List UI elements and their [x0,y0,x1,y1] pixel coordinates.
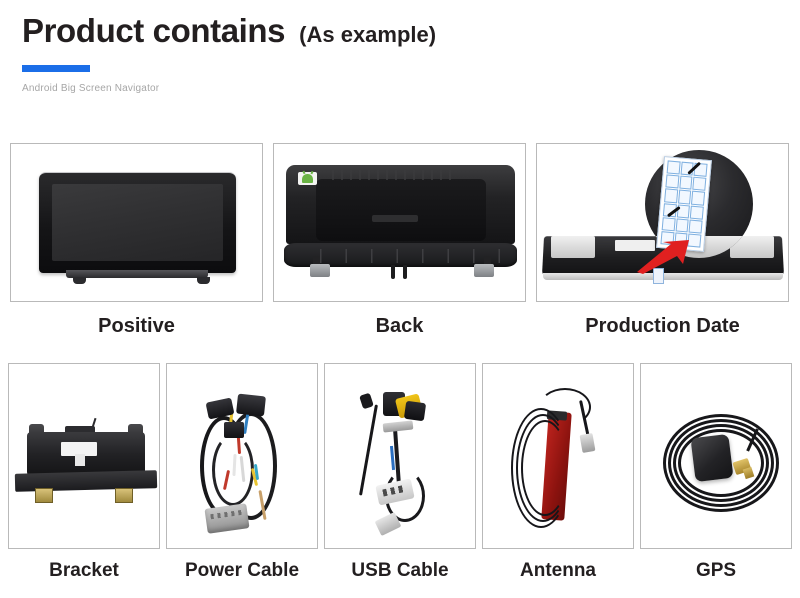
product-caption: Production Date [585,316,739,336]
product-caption: Back [376,316,424,336]
product-cell-positive: Positive [10,143,263,336]
bracket-icon [9,364,159,548]
product-cell-bracket: Bracket [8,363,160,580]
production-date-illustration [537,144,788,301]
product-caption: Positive [98,316,175,336]
red-arrow-icon [637,240,691,274]
product-card-power-cable[interactable] [166,363,318,549]
antenna-icon [483,364,633,548]
product-card-gps[interactable] [640,363,792,549]
product-cell-gps: GPS [640,363,792,580]
page-title-note: (As example) [299,24,436,46]
product-cell-production-date: Production Date [536,143,789,336]
android-logo-icon [298,172,317,185]
product-card-usb-cable[interactable] [324,363,476,549]
product-row-top: Positive Back [10,143,790,336]
product-caption: Antenna [520,561,596,580]
product-card-bracket[interactable] [8,363,160,549]
usb-cable-icon [325,364,475,548]
product-row-bottom: Bracket Power Cabl [8,363,792,580]
page-tagline: Android Big Screen Navigator [22,83,782,94]
product-card-back[interactable] [273,143,526,302]
power-cable-icon [167,364,317,548]
page-header: Product contains (As example) Android Bi… [22,14,782,94]
title-row: Product contains (As example) [22,14,782,47]
page-title: Product contains [22,14,285,47]
product-card-production-date[interactable] [536,143,789,302]
product-caption: Power Cable [185,561,299,580]
head-unit-back-icon [274,144,525,301]
head-unit-front-icon [11,144,262,301]
product-cell-back: Back [273,143,526,336]
product-card-positive[interactable] [10,143,263,302]
product-cell-usb-cable: USB Cable [324,363,476,580]
product-caption: USB Cable [351,561,448,580]
product-caption: GPS [696,561,736,580]
accent-bar [22,65,90,72]
product-cell-antenna: Antenna [482,363,634,580]
product-caption: Bracket [49,561,119,580]
product-cell-power-cable: Power Cable [166,363,318,580]
date-sticker-zoomed [656,156,712,252]
gps-antenna-icon [641,364,791,548]
product-card-antenna[interactable] [482,363,634,549]
